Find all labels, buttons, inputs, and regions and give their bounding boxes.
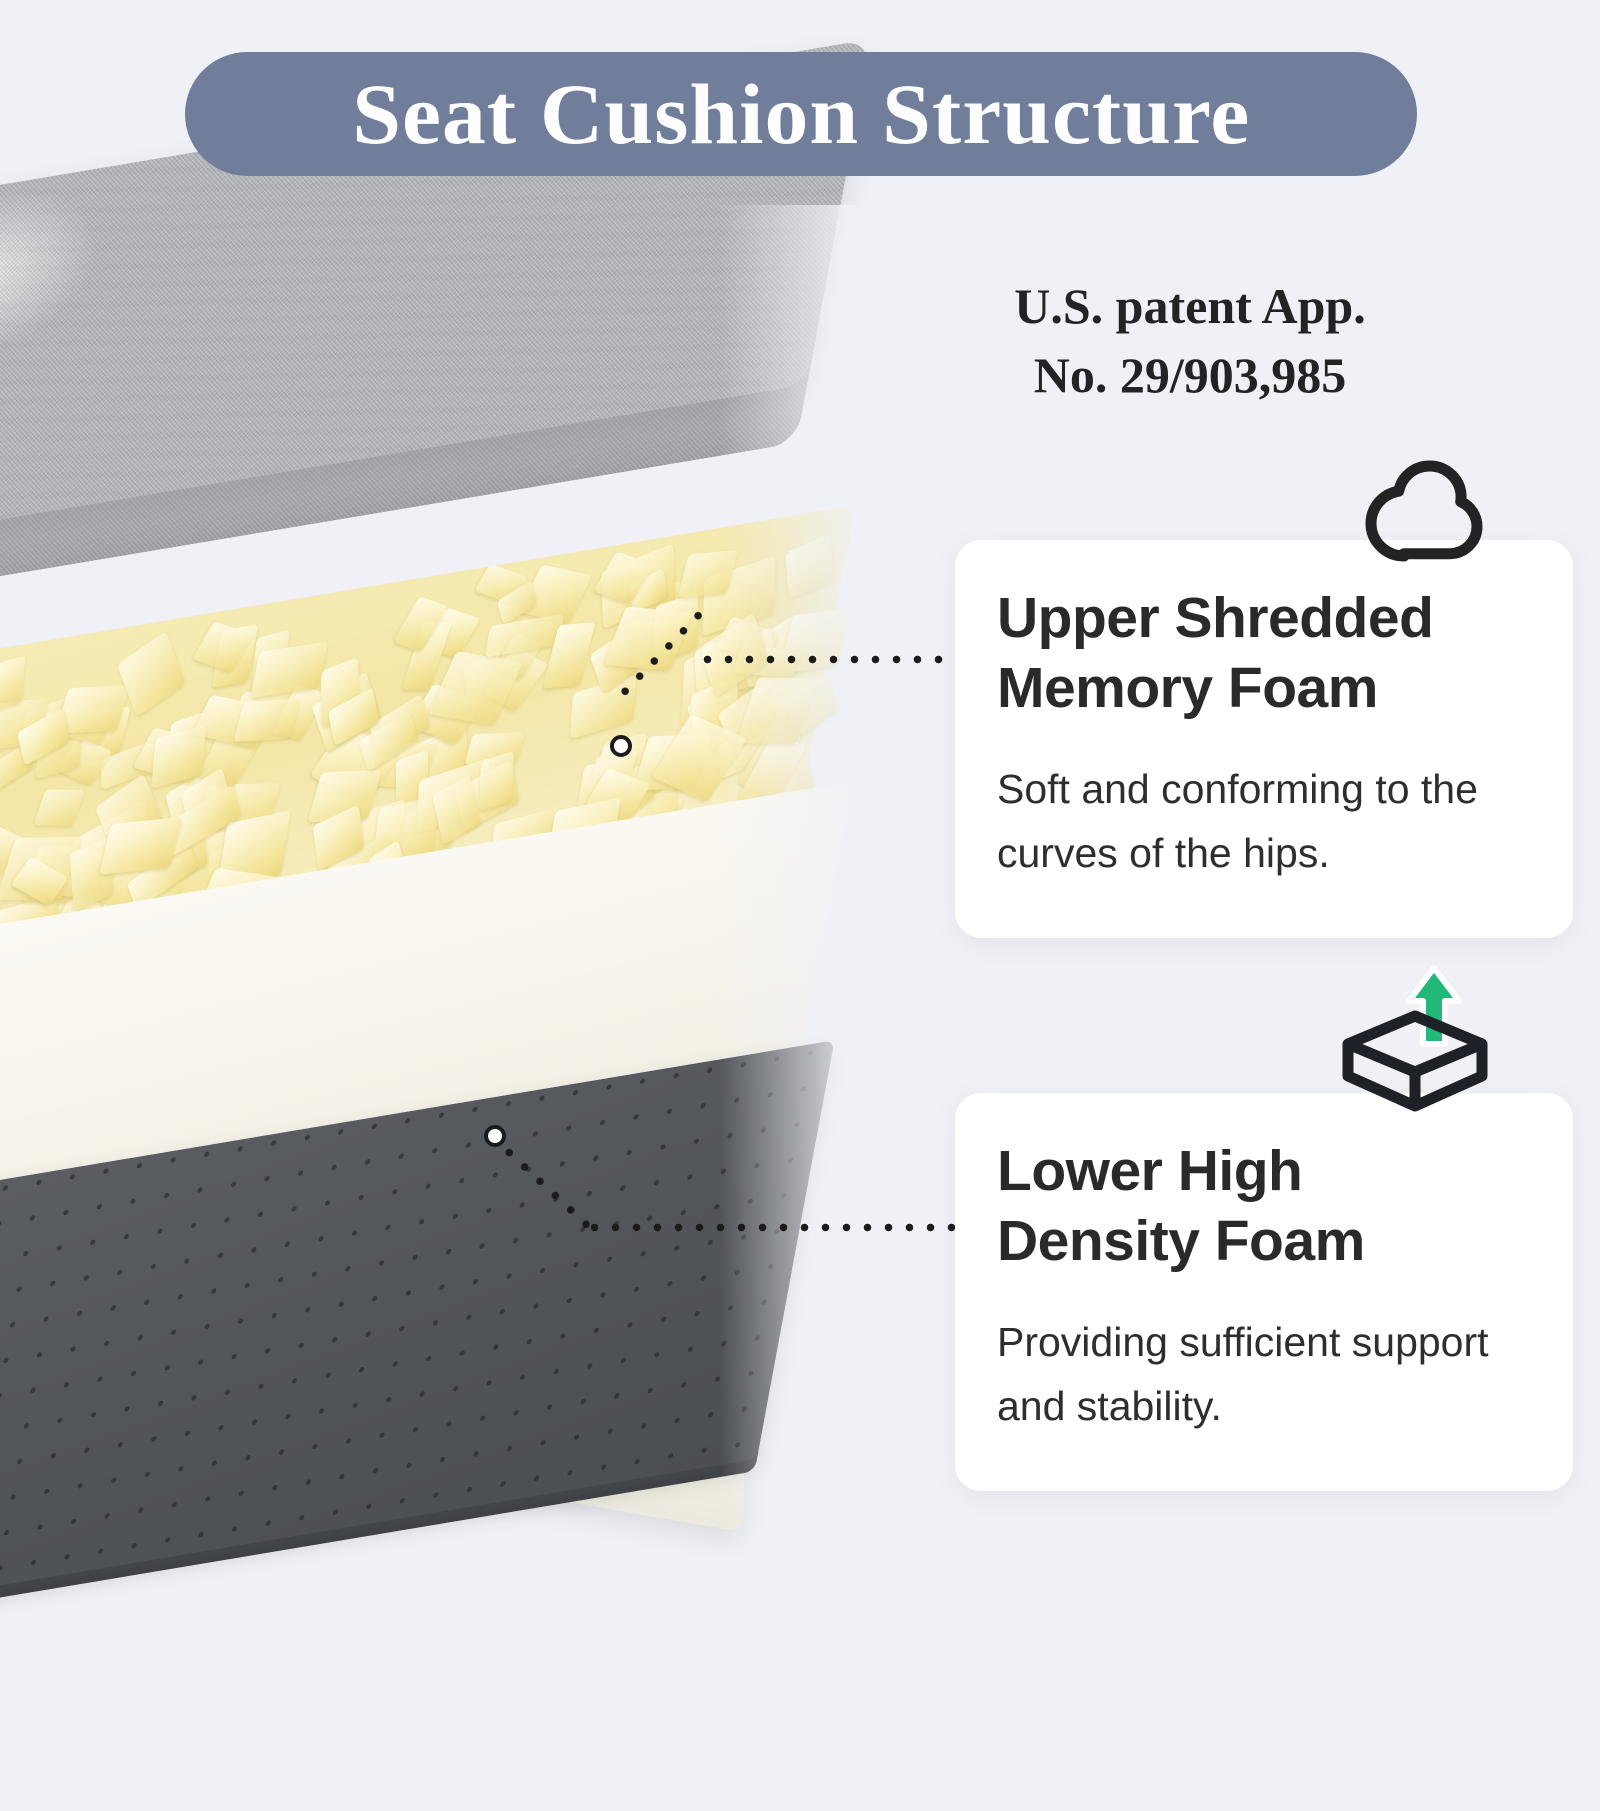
page-title-banner: Seat Cushion Structure — [185, 52, 1417, 176]
open-box-up-arrow-icon — [1330, 960, 1500, 1120]
patent-application-text: U.S. patent App. No. 29/903,985 — [920, 272, 1460, 410]
card-upper-title: Upper Shredded Memory Foam — [997, 584, 1537, 723]
info-card-upper-shredded-memory-foam[interactable]: Upper Shredded Memory Foam Soft and conf… — [955, 540, 1573, 938]
page-title: Seat Cushion Structure — [352, 71, 1250, 157]
patent-line-2: No. 29/903,985 — [920, 341, 1460, 410]
card-lower-title-line2: Density Foam — [997, 1209, 1365, 1273]
card-lower-desc-line1: Providing sufficient support — [997, 1319, 1489, 1365]
card-upper-title-line2: Memory Foam — [997, 656, 1378, 720]
cloud-icon — [1355, 452, 1483, 564]
info-card-lower-high-density-foam[interactable]: Lower High Density Foam Providing suffic… — [955, 1093, 1573, 1491]
card-lower-title: Lower High Density Foam — [997, 1137, 1537, 1276]
card-upper-title-line1: Upper Shredded — [997, 586, 1433, 650]
product-exploded-illustration — [0, 205, 950, 1625]
card-lower-title-line1: Lower High — [997, 1139, 1302, 1203]
patent-line-1: U.S. patent App. — [920, 272, 1460, 341]
card-upper-description: Soft and conforming to the curves of the… — [997, 758, 1545, 885]
card-upper-desc-line1: Soft and conforming to the — [997, 766, 1478, 812]
card-upper-desc-line2: curves of the hips. — [997, 830, 1330, 876]
card-lower-description: Providing sufficient support and stabili… — [997, 1311, 1545, 1438]
card-lower-desc-line2: and stability. — [997, 1383, 1222, 1429]
infographic-stage: Seat Cushion Structure U.S. patent App. … — [0, 0, 1600, 1600]
